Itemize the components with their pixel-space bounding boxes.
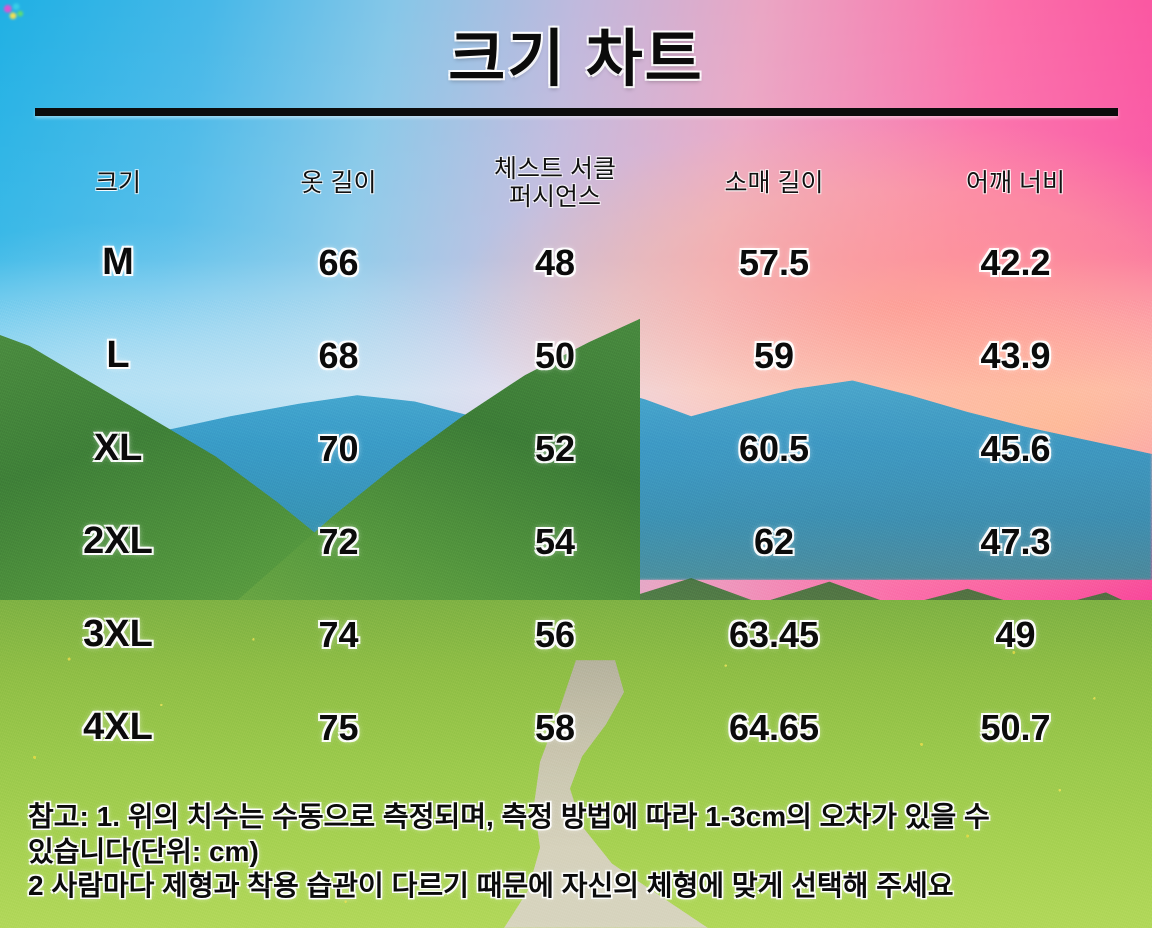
cell-shoulder-width: 45.6	[879, 402, 1152, 495]
size-chart-table: 크기 옷 길이 체스트 서클 퍼시언스 소매 길이 어깨 너비	[0, 150, 1152, 774]
column-header-garment-length: 옷 길이	[236, 150, 441, 216]
cell-size: XL	[0, 402, 236, 495]
cell-shoulder-width: 47.3	[879, 495, 1152, 588]
cell-chest-circumference: 56	[441, 588, 669, 681]
cell-size: 4XL	[0, 681, 236, 774]
column-header-sleeve-length-line1: 소매 길이	[725, 169, 824, 197]
cell-sleeve-length: 57.5	[669, 216, 879, 309]
table-row: L 68 50 59 43.9	[0, 309, 1152, 402]
chart-content: 크기 차트 크기 옷 길이 체스트 서클 퍼시언스	[0, 0, 1152, 928]
column-header-garment-length-line1: 옷 길이	[301, 169, 377, 197]
cell-sleeve-length: 64.65	[669, 681, 879, 774]
notes-block: 참고: 1. 위의 치수는 수동으로 측정되며, 측정 방법에 따라 1-3cm…	[28, 800, 1138, 904]
cell-chest-circumference: 50	[441, 309, 669, 402]
cell-chest-circumference: 54	[441, 495, 669, 588]
cell-size: 3XL	[0, 588, 236, 681]
cell-size: 2XL	[0, 495, 236, 588]
cell-shoulder-width: 49	[879, 588, 1152, 681]
cell-garment-length: 68	[236, 309, 441, 402]
cell-size: M	[0, 216, 236, 309]
column-header-shoulder-width-line1: 어깨 너비	[966, 169, 1065, 197]
cell-garment-length: 74	[236, 588, 441, 681]
cell-sleeve-length: 60.5	[669, 402, 879, 495]
table-row: XL 70 52 60.5 45.6	[0, 402, 1152, 495]
cell-shoulder-width: 42.2	[879, 216, 1152, 309]
note-line-3: 2 사람마다 제형과 착용 습관이 다르기 때문에 자신의 체형에 맞게 선택해…	[28, 869, 1138, 904]
column-header-shoulder-width: 어깨 너비	[879, 150, 1152, 216]
cell-garment-length: 75	[236, 681, 441, 774]
table-row: 2XL 72 54 62 47.3	[0, 495, 1152, 588]
table-header-row: 크기 옷 길이 체스트 서클 퍼시언스 소매 길이 어깨 너비	[0, 150, 1152, 216]
column-header-chest-circumference-line2: 퍼시언스	[441, 183, 669, 211]
table-row: 4XL 75 58 64.65 50.7	[0, 681, 1152, 774]
column-header-sleeve-length: 소매 길이	[669, 150, 879, 216]
column-header-chest-circumference: 체스트 서클 퍼시언스	[441, 150, 669, 216]
size-chart-page: 크기 차트 크기 옷 길이 체스트 서클 퍼시언스	[0, 0, 1152, 928]
cell-chest-circumference: 58	[441, 681, 669, 774]
page-title: 크기 차트	[0, 8, 1152, 98]
table-row: M 66 48 57.5 42.2	[0, 216, 1152, 309]
column-header-chest-circumference-line1: 체스트 서클	[494, 155, 616, 183]
title-divider	[35, 108, 1118, 116]
cell-sleeve-length: 59	[669, 309, 879, 402]
cell-size: L	[0, 309, 236, 402]
cell-garment-length: 66	[236, 216, 441, 309]
cell-shoulder-width: 43.9	[879, 309, 1152, 402]
cell-garment-length: 70	[236, 402, 441, 495]
cell-chest-circumference: 52	[441, 402, 669, 495]
note-line-1: 참고: 1. 위의 치수는 수동으로 측정되며, 측정 방법에 따라 1-3cm…	[28, 800, 1138, 835]
column-header-size: 크기	[0, 150, 236, 216]
cell-sleeve-length: 63.45	[669, 588, 879, 681]
note-line-2: 있습니다(단위: cm)	[28, 835, 1138, 870]
cell-chest-circumference: 48	[441, 216, 669, 309]
cell-sleeve-length: 62	[669, 495, 879, 588]
cell-garment-length: 72	[236, 495, 441, 588]
table-row: 3XL 74 56 63.45 49	[0, 588, 1152, 681]
column-header-size-line1: 크기	[95, 169, 141, 197]
cell-shoulder-width: 50.7	[879, 681, 1152, 774]
